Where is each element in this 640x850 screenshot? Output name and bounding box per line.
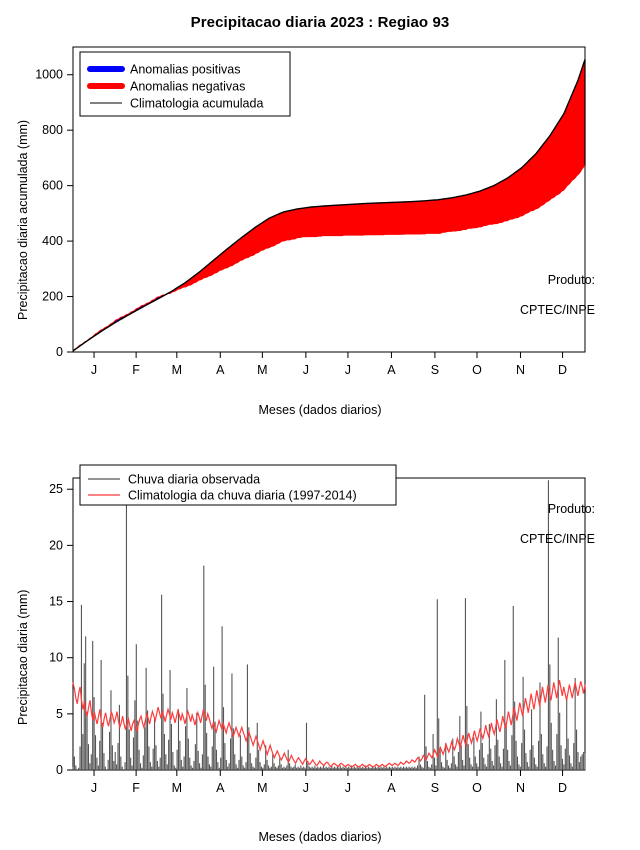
y-tick-label: 1000	[35, 68, 63, 82]
x-tick-label-M: M	[257, 363, 267, 377]
produto-label-top: Produto:	[548, 273, 595, 287]
x-tick-label-D: D	[558, 363, 567, 377]
produto-value-top: CPTEC/INPE	[520, 303, 595, 317]
produto-annotation-top: Produto: CPTEC/INPE	[390, 258, 595, 333]
produto-value-bottom: CPTEC/INPE	[520, 532, 595, 546]
x-tick-label-M: M	[172, 781, 182, 795]
x-tick-label-J: J	[345, 363, 351, 377]
x-tick-label-J: J	[91, 363, 97, 377]
x-tick-label-F: F	[132, 363, 140, 377]
x-tick-label-O: O	[472, 363, 482, 377]
y-tick-label: 25	[49, 482, 63, 496]
produto-label-bottom: Produto:	[548, 502, 595, 516]
x-tick-label-M: M	[172, 363, 182, 377]
legend-label-0: Anomalias positivas	[130, 63, 240, 77]
x-tick-label-M: M	[257, 781, 267, 795]
accumulated-x-axis-label: Meses (dados diarios)	[0, 403, 640, 417]
accumulated-y-axis-label: Precipitacao diaria acumulada (mm)	[16, 120, 30, 320]
y-tick-label: 10	[49, 651, 63, 665]
legend-label-0: Chuva diaria observada	[128, 473, 260, 487]
figure-page: Precipitacao diaria 2023 : Regiao 93 020…	[0, 0, 640, 850]
x-tick-label-J: J	[303, 363, 309, 377]
legend-label-1: Anomalias negativas	[130, 80, 245, 94]
x-tick-label-J: J	[303, 781, 309, 795]
y-tick-label: 0	[56, 345, 63, 359]
x-tick-label-A: A	[216, 781, 225, 795]
y-tick-label: 200	[42, 290, 63, 304]
x-tick-label-N: N	[516, 781, 525, 795]
y-tick-label: 800	[42, 123, 63, 137]
x-tick-label-D: D	[558, 781, 567, 795]
daily-y-axis-label: Precipitacao diaria (mm)	[16, 590, 30, 725]
x-tick-label-J: J	[91, 781, 97, 795]
x-tick-label-A: A	[387, 781, 396, 795]
x-tick-label-A: A	[216, 363, 225, 377]
climatology-daily-line	[73, 680, 585, 766]
y-tick-label: 15	[49, 595, 63, 609]
y-tick-label: 0	[56, 763, 63, 777]
legend-label-2: Climatologia acumulada	[130, 97, 263, 111]
y-tick-label: 600	[42, 179, 63, 193]
y-tick-label: 20	[49, 538, 63, 552]
legend-label-1: Climatologia da chuva diaria (1997-2014)	[128, 489, 357, 503]
daily-x-axis-label: Meses (dados diarios)	[0, 830, 640, 844]
x-tick-label-F: F	[132, 781, 140, 795]
x-tick-label-N: N	[516, 363, 525, 377]
page-title: Precipitacao diaria 2023 : Regiao 93	[0, 14, 640, 31]
x-tick-label-A: A	[387, 363, 396, 377]
x-tick-label-S: S	[431, 363, 439, 377]
y-tick-label: 400	[42, 234, 63, 248]
x-tick-label-J: J	[345, 781, 351, 795]
x-tick-label-O: O	[472, 781, 482, 795]
accumulated-chart-svg: 02004006008001000JFMAMJJASONDAnomalias p…	[0, 40, 640, 420]
y-tick-label: 5	[56, 707, 63, 721]
produto-annotation-bottom: Produto: CPTEC/INPE	[390, 487, 595, 562]
accumulated-precipitation-chart: 02004006008001000JFMAMJJASONDAnomalias p…	[0, 40, 640, 420]
x-tick-label-S: S	[431, 781, 439, 795]
